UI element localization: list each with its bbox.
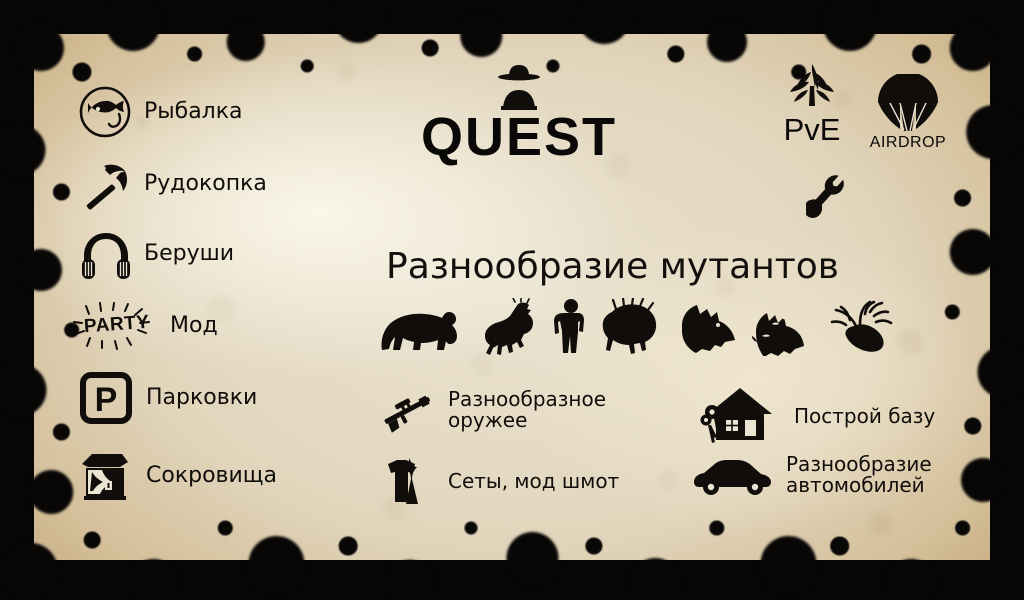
mutants-silhouette-strip xyxy=(378,296,898,356)
pickaxe-icon xyxy=(78,156,134,212)
pve-badge: PvE xyxy=(772,60,852,145)
feature-row-parking[interactable]: P Парковки xyxy=(80,372,257,424)
crawler-mutant-silhouette xyxy=(484,298,540,356)
feature-row-mining[interactable]: Рудокопка xyxy=(78,156,267,212)
quest-brand-block: QUEST xyxy=(404,62,634,163)
mutants-title: Разнообразие мутантов xyxy=(386,246,839,287)
party-burst-icon: PARTY xyxy=(72,302,158,350)
parking-sign-icon: P xyxy=(80,372,132,424)
feature-row-mods[interactable]: PARTY Мод xyxy=(72,302,218,350)
airdrop-label: AIRDROP xyxy=(860,134,956,152)
cannabis-leaf-icon xyxy=(772,60,852,118)
feature-label-base-building: Построй базу xyxy=(794,406,935,427)
parachute-icon xyxy=(860,74,956,136)
feature-row-treasure[interactable]: Сокровища xyxy=(76,448,277,504)
headphones-icon xyxy=(78,226,134,282)
wolf-head-silhouette xyxy=(672,302,738,356)
bear-silhouette xyxy=(378,298,474,356)
feature-row-base-building[interactable]: Построй базу xyxy=(700,384,935,448)
boar-head-silhouette xyxy=(748,302,810,356)
feature-label-fishing: Рыбалка xyxy=(144,100,243,123)
feature-label-treasure: Сокровища xyxy=(146,464,277,487)
detective-hat-figure-icon xyxy=(404,62,634,110)
feature-row-earplugs[interactable]: Беруши xyxy=(78,226,234,282)
feature-row-vehicles[interactable]: Разнообразие автомобилей xyxy=(690,454,932,496)
spiked-beast-silhouette xyxy=(600,298,662,356)
feature-label-weapons: Разнообразное оружее xyxy=(448,389,606,431)
party-icon-text: PARTY xyxy=(83,312,150,339)
feature-label-outfits: Сеты, мод шмот xyxy=(448,471,619,492)
car-icon xyxy=(690,454,776,496)
feature-label-mining: Рудокопка xyxy=(144,172,267,195)
poster-canvas: Рыбалка Рудокопка xyxy=(0,0,1024,600)
clothing-icon xyxy=(378,456,436,506)
feature-label-vehicles: Разнообразие автомобилей xyxy=(786,454,932,496)
house-keys-icon xyxy=(700,384,780,448)
wrench-icon xyxy=(806,172,858,224)
svg-text:P: P xyxy=(95,381,118,419)
content-layer: Рыбалка Рудокопка xyxy=(0,0,1024,600)
feature-row-fishing[interactable]: Рыбалка xyxy=(78,84,243,140)
fish-hook-icon xyxy=(78,84,134,140)
airdrop-badge: AIRDROP xyxy=(860,74,956,152)
zombie-silhouette xyxy=(550,298,590,356)
feature-label-mods: Мод xyxy=(170,314,218,337)
feature-label-earplugs: Беруши xyxy=(144,242,234,265)
quest-wordmark: QUEST xyxy=(404,112,634,163)
feature-row-weapons[interactable]: Разнообразное оружее xyxy=(378,386,606,434)
feature-label-parking: Парковки xyxy=(146,386,257,409)
feature-row-outfits[interactable]: Сеты, мод шмот xyxy=(378,456,619,506)
sniper-rifle-icon xyxy=(378,386,436,434)
elk-head-silhouette xyxy=(820,300,898,356)
treasure-chest-icon xyxy=(76,448,134,504)
pve-label: PvE xyxy=(772,114,852,145)
